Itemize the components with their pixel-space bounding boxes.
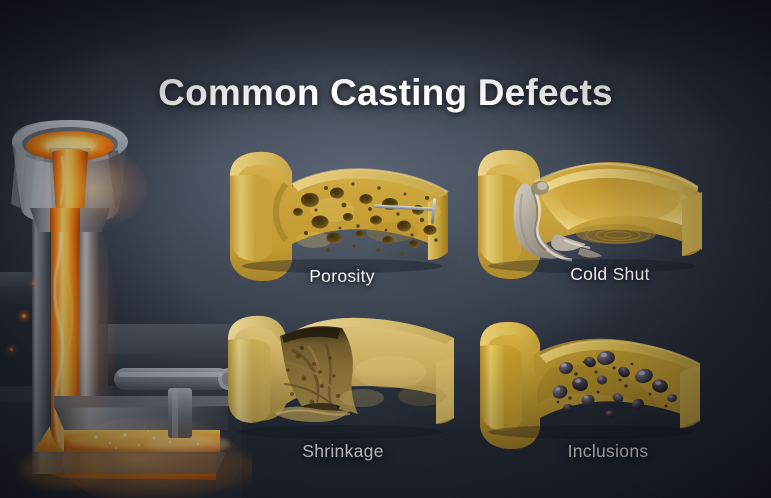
background-vignette — [0, 0, 771, 498]
casting-defects-infographic: Porosity — [0, 0, 771, 498]
